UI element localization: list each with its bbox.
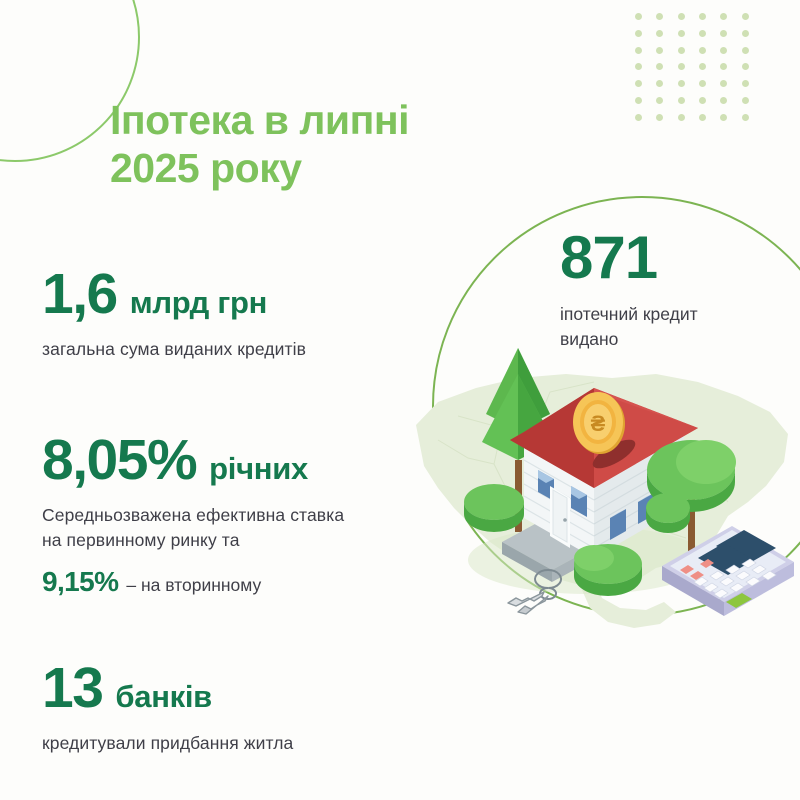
stat-secondary-market-rate-value: 9,15% (42, 566, 118, 598)
stat-total-amount-headline: 1,6 млрд грн (42, 266, 442, 323)
stat-interest-rate-unit: річних (209, 451, 308, 487)
svg-text:₴: ₴ (591, 411, 606, 436)
stat-banks-description: кредитували придбання житла (42, 731, 442, 756)
stat-loans-issued-value: 871 (560, 228, 790, 288)
stat-banks-headline: 13 банків (42, 660, 442, 717)
page-title-line-2: 2025 року (110, 144, 530, 192)
page-title: Іпотека в липні 2025 року (110, 96, 530, 193)
bush-front (574, 544, 642, 596)
bush-right-small (646, 493, 690, 533)
stat-interest-rate: 8,05% річних Середньозважена ефективна с… (42, 432, 442, 598)
house-illustration: ₴ (398, 330, 800, 660)
stat-interest-rate-description-line-1: Середньозважена ефективна ставка (42, 503, 442, 528)
stat-interest-rate-headline: 8,05% річних (42, 432, 442, 489)
stat-loans-issued-description-line-1: іпотечний кредит (560, 302, 740, 327)
stat-interest-rate-description-line-2: на первинному ринку та (42, 528, 442, 553)
decorative-dot-grid (628, 8, 756, 126)
stat-banks: 13 банків кредитували придбання житла (42, 660, 442, 756)
stat-interest-rate-value: 8,05% (42, 432, 196, 489)
stat-banks-value: 13 (42, 660, 102, 717)
infographic-canvas: Іпотека в липні 2025 року 1,6 млрд грн з… (0, 0, 800, 800)
stat-banks-unit: банків (115, 679, 212, 715)
stat-total-amount: 1,6 млрд грн загальна сума виданих креди… (42, 266, 442, 362)
stat-total-amount-unit: млрд грн (130, 285, 267, 321)
stat-total-amount-description: загальна сума виданих кредитів (42, 337, 442, 362)
stat-interest-rate-description: Середньозважена ефективна ставка на перв… (42, 503, 442, 553)
stat-secondary-market-rate: 9,15% – на вторинному (42, 566, 442, 598)
page-title-line-1: Іпотека в липні (110, 96, 530, 144)
bush-left (464, 484, 524, 532)
stat-total-amount-value: 1,6 (42, 266, 117, 323)
stat-secondary-market-rate-label: – на вторинному (126, 575, 261, 596)
